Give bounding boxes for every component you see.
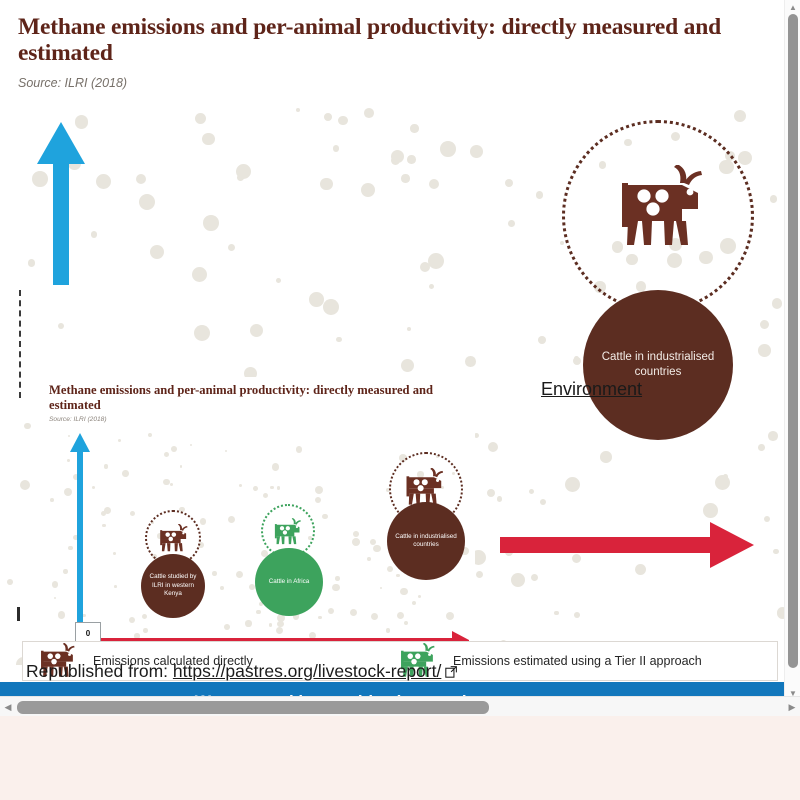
decorative-dot xyxy=(387,566,393,572)
decorative-dot xyxy=(256,610,260,614)
decorative-dot xyxy=(142,614,147,619)
decorative-dot xyxy=(328,608,334,614)
decorative-dot xyxy=(380,587,382,589)
decorative-dot xyxy=(163,479,169,485)
bubble-label: Cattle in Africa xyxy=(269,578,310,587)
outer-graphic-layer: Cattle in industrialised countries Envir… xyxy=(0,105,788,665)
decorative-dot xyxy=(200,518,207,525)
outer-legend-label-tier2: Emissions estimated using a Tier II appr… xyxy=(453,654,702,668)
decorative-dot xyxy=(122,470,129,477)
decorative-dot xyxy=(228,516,235,523)
decorative-dot xyxy=(113,552,116,555)
productivity-axis-arrow-icon xyxy=(36,120,86,285)
decorative-dot xyxy=(315,497,321,503)
republished-line: Republished from: https://pastres.org/li… xyxy=(26,661,458,682)
decorative-dot xyxy=(364,108,374,118)
decorative-dot xyxy=(96,174,111,189)
decorative-dot xyxy=(773,549,778,554)
decorative-dot xyxy=(20,480,31,491)
vertical-scrollbar-thumb[interactable] xyxy=(788,14,798,668)
decorative-dot xyxy=(338,116,347,125)
decorative-dot xyxy=(410,124,418,132)
decorative-dot xyxy=(336,337,341,342)
decorative-dot xyxy=(428,253,444,269)
decorative-dot xyxy=(320,178,333,191)
decorative-dot xyxy=(129,617,135,623)
decorative-dot xyxy=(772,298,782,308)
page-viewport: Methane emissions and per-animal product… xyxy=(0,0,788,700)
environment-link[interactable]: Environment xyxy=(541,379,642,400)
decorative-dot xyxy=(488,442,498,452)
decorative-dot xyxy=(371,613,378,620)
decorative-dot xyxy=(476,571,483,578)
decorative-dot xyxy=(58,611,65,618)
left-tick-mark xyxy=(17,607,20,621)
decorative-dot xyxy=(401,359,414,372)
decorative-dot xyxy=(130,511,135,516)
decorative-dot xyxy=(296,108,300,112)
bubble-label: Cattle in industrialised countries xyxy=(583,350,733,380)
decorative-dot xyxy=(350,609,357,616)
decorative-dot xyxy=(272,463,279,470)
decorative-dot xyxy=(373,545,381,553)
external-link-icon[interactable] xyxy=(445,665,458,678)
decorative-dot xyxy=(104,507,111,514)
embedded-figure: Methane emissions and per-animal product… xyxy=(35,377,475,665)
bubble-cattle-africa: Cattle in Africa xyxy=(255,548,323,616)
decorative-dot xyxy=(404,621,408,625)
decorative-dot xyxy=(420,262,430,272)
decorative-dot xyxy=(139,194,155,210)
decorative-dot xyxy=(315,486,323,494)
decorative-dot xyxy=(323,299,339,315)
cow-icon-green xyxy=(271,518,305,546)
decorative-dot xyxy=(361,183,375,197)
decorative-dot xyxy=(538,336,546,344)
decorative-dot xyxy=(236,571,243,578)
decorative-dot xyxy=(277,486,281,490)
decorative-dot xyxy=(429,179,439,189)
page-source-note: Source: ILRI (2018) xyxy=(18,76,758,90)
page-header: Methane emissions and per-animal product… xyxy=(18,14,758,90)
decorative-dot xyxy=(322,514,327,519)
decorative-dot xyxy=(703,503,718,518)
vertical-scrollbar[interactable]: ▲ ▼ xyxy=(784,0,800,700)
decorative-dot xyxy=(412,601,416,605)
decorative-dot xyxy=(180,465,183,468)
scroll-up-arrow-icon[interactable]: ▲ xyxy=(785,0,800,14)
decorative-dot xyxy=(429,284,435,290)
decorative-dot xyxy=(102,524,105,527)
decorative-dot xyxy=(171,446,177,452)
decorative-dot xyxy=(318,616,321,619)
decorative-dot xyxy=(508,220,515,227)
decorative-dot xyxy=(401,174,409,182)
decorative-dot xyxy=(148,433,152,437)
decorative-dot xyxy=(225,450,227,452)
decorative-dot xyxy=(531,574,538,581)
decorative-dot xyxy=(565,477,580,492)
decorative-dot xyxy=(352,538,360,546)
decorative-dot xyxy=(28,259,35,266)
decorative-dot xyxy=(239,484,242,487)
decorative-dot xyxy=(7,579,13,585)
decorative-dot xyxy=(396,574,400,578)
decorative-dot xyxy=(497,496,502,501)
decorative-dot xyxy=(764,516,770,522)
decorative-dot xyxy=(63,569,67,573)
decorative-dot xyxy=(150,245,164,259)
decorative-dot xyxy=(397,612,404,619)
decorative-dot xyxy=(446,612,454,620)
decorative-dot xyxy=(505,179,513,187)
decorative-dot xyxy=(487,489,495,497)
page-title: Methane emissions and per-animal product… xyxy=(18,14,758,66)
left-dashed-guide xyxy=(19,290,21,398)
decorative-dot xyxy=(529,489,534,494)
decorative-dot xyxy=(554,611,559,616)
decorative-dot xyxy=(190,444,192,446)
decorative-dot xyxy=(296,446,303,453)
decorative-dot xyxy=(734,110,747,123)
scroll-right-arrow-icon[interactable]: ▶ xyxy=(784,697,800,717)
scroll-left-arrow-icon[interactable]: ◀ xyxy=(0,697,16,717)
figure-plot-area: PRODUCTIVITY 0 xyxy=(49,432,469,665)
decorative-dot xyxy=(309,292,324,307)
horizontal-scrollbar-thumb[interactable] xyxy=(17,701,489,714)
decorative-dot xyxy=(91,231,97,237)
decorative-dot xyxy=(212,571,217,576)
decorative-dot xyxy=(332,584,340,592)
bubble-label: Cattle in industrialised countries xyxy=(389,533,463,550)
decorative-dot xyxy=(245,620,251,626)
decorative-dot xyxy=(58,323,64,329)
decorative-dot xyxy=(407,155,416,164)
decorative-dot xyxy=(236,164,252,180)
decorative-dot xyxy=(440,141,456,157)
decorative-dot xyxy=(400,588,408,596)
decorative-dot xyxy=(118,439,121,442)
decorative-dot xyxy=(195,113,206,124)
decorative-dot xyxy=(250,324,263,337)
decorative-dot xyxy=(465,356,476,367)
cow-icon-brown xyxy=(610,165,715,250)
decorative-dot xyxy=(353,531,359,537)
decorative-dot xyxy=(758,344,770,356)
decorative-dot xyxy=(738,151,752,165)
figure-title: Methane emissions and per-animal product… xyxy=(49,383,474,412)
decorative-dot xyxy=(276,278,281,283)
decorative-dot xyxy=(470,145,483,158)
decorative-dot xyxy=(540,499,546,505)
decorative-dot xyxy=(370,539,376,545)
bubble-cattle-industrialised: Cattle in industrialised countries xyxy=(387,502,465,580)
decorative-dot xyxy=(253,486,258,491)
decorative-dot xyxy=(50,498,54,502)
bubble-cattle-industrialised: Cattle in industrialised countries xyxy=(583,290,733,440)
decorative-dot xyxy=(203,215,219,231)
decorative-dot xyxy=(24,423,31,430)
decorative-dot xyxy=(758,444,765,451)
republished-link[interactable]: https://pastres.org/livestock-report/ xyxy=(173,661,441,681)
decorative-dot xyxy=(335,576,339,580)
decorative-dot xyxy=(263,493,268,498)
decorative-dot xyxy=(600,451,612,463)
decorative-dot xyxy=(574,356,579,361)
decorative-dot xyxy=(760,320,769,329)
decorative-dot xyxy=(723,474,728,479)
bubble-cattle-kenya: Cattle studied by ILRI in western Kenya xyxy=(141,554,205,618)
decorative-dot xyxy=(333,145,340,152)
decorative-dot xyxy=(228,244,235,251)
decorative-dot xyxy=(511,573,525,587)
decorative-dot xyxy=(202,133,214,145)
figure-y-axis-arrow-icon xyxy=(69,432,91,647)
decorative-dot xyxy=(391,150,404,163)
decorative-dot xyxy=(770,195,778,203)
republished-prefix: Republished from: xyxy=(26,661,168,681)
bubble-label: Cattle studied by ILRI in western Kenya xyxy=(143,573,203,599)
decorative-dot xyxy=(418,595,421,598)
decorative-dot xyxy=(249,584,255,590)
decorative-dot xyxy=(367,557,371,561)
decorative-dot xyxy=(194,325,210,341)
figure-source-note: Source: ILRI (2018) xyxy=(49,416,107,423)
decorative-dot xyxy=(270,486,274,490)
decorative-dot xyxy=(536,191,544,199)
decorative-dot xyxy=(170,483,173,486)
decorative-dot xyxy=(92,486,95,489)
decorative-dot xyxy=(224,624,230,630)
below-fold-area xyxy=(0,716,800,800)
decorative-dot xyxy=(407,327,411,331)
horizontal-scrollbar[interactable]: ◀ ▶ xyxy=(0,696,800,716)
decorative-dot xyxy=(220,586,224,590)
decorative-dot xyxy=(114,585,117,588)
decorative-dot xyxy=(768,431,778,441)
decorative-dot xyxy=(52,581,59,588)
decorative-dot xyxy=(269,623,273,627)
decorative-dot xyxy=(192,267,207,282)
cow-icon-brown xyxy=(156,524,192,553)
decorative-dot xyxy=(574,612,580,618)
decorative-dot xyxy=(104,464,108,468)
decorative-dot xyxy=(560,241,564,245)
figure-y-axis-label: PRODUCTIVITY xyxy=(49,473,50,532)
decorative-dot xyxy=(164,452,169,457)
emissions-axis-arrow-icon xyxy=(500,520,755,570)
decorative-dot xyxy=(54,597,56,599)
decorative-dot xyxy=(136,174,146,184)
decorative-dot xyxy=(324,113,332,121)
